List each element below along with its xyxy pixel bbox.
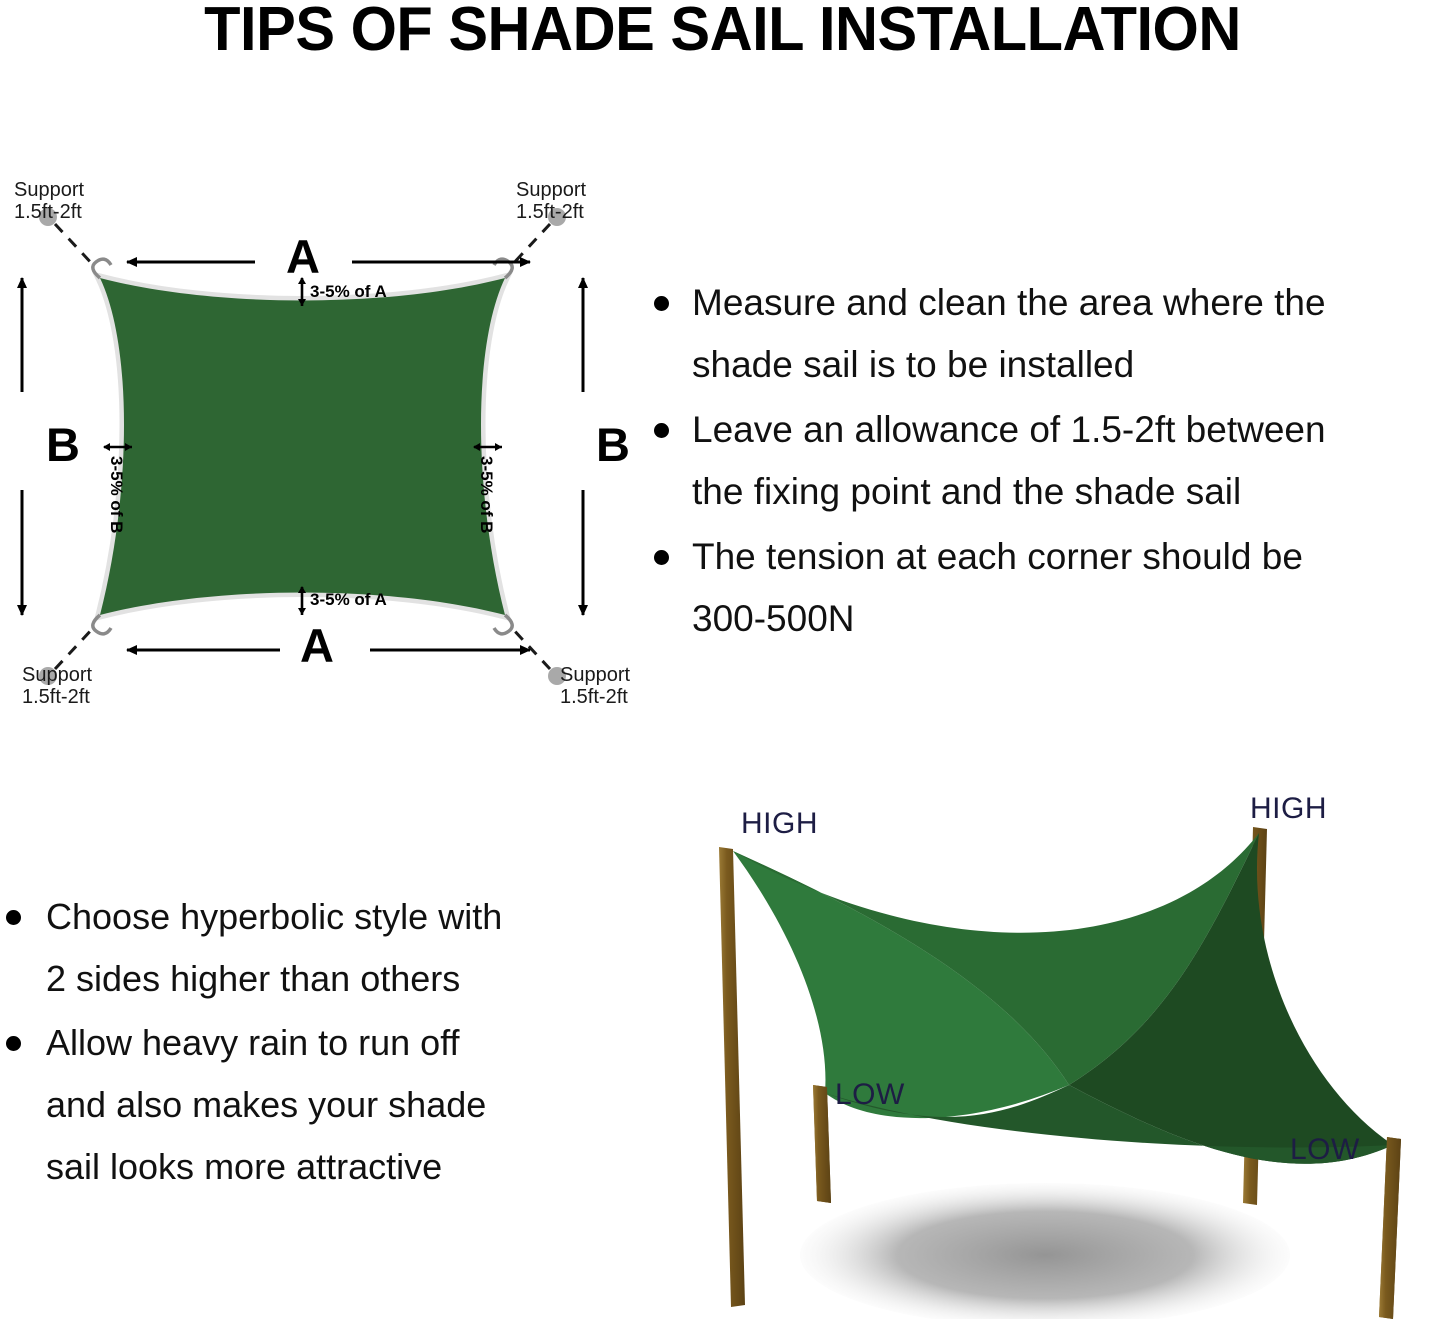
list-item: Measure and clean the area where the sha… <box>646 272 1445 396</box>
page-title: TIPS OF SHADE SAIL INSTALLATION <box>29 0 1416 65</box>
support-label-line1: Support <box>14 179 84 201</box>
dimension-letter-top-A: A <box>286 233 320 280</box>
support-label-line1: Support <box>560 664 630 686</box>
list-item: Allow heavy rain to run off and also mak… <box>0 1012 625 1198</box>
tip-line: The tension at each corner should be <box>692 536 1303 577</box>
tips-list-bottom: Choose hyperbolic style with 2 sides hig… <box>0 886 625 1200</box>
tip-line: sail looks more attractive <box>46 1146 442 1187</box>
dimension-letter-left-B: B <box>46 421 80 468</box>
tip-line: Choose hyperbolic style with <box>46 896 502 937</box>
ground-shadow <box>800 1183 1290 1319</box>
corner-label-high-left: HIGH <box>741 807 818 841</box>
support-label-line1: Support <box>22 664 92 686</box>
sail-body <box>100 278 505 615</box>
list-item: The tension at each corner should be 300… <box>646 526 1445 650</box>
corner-label-low-right: LOW <box>1290 1133 1360 1167</box>
list-item: Choose hyperbolic style with 2 sides hig… <box>0 886 625 1010</box>
curvature-label-top: 3-5% of A <box>310 282 387 302</box>
corner-label-high-right: HIGH <box>1250 792 1327 826</box>
pole-back-left <box>719 847 745 1307</box>
curvature-label-bottom: 3-5% of A <box>310 590 387 610</box>
support-label-bottom-left: Support 1.5ft-2ft <box>22 665 92 708</box>
support-label-line2: 1.5ft-2ft <box>516 202 586 224</box>
corner-label-low-left: LOW <box>835 1078 905 1112</box>
curvature-label-right: 3-5% of B <box>476 456 496 533</box>
tip-line: 300-500N <box>692 598 855 639</box>
hyperbolic-sail-diagram: HIGH HIGH LOW LOW <box>645 785 1445 1319</box>
list-item: Leave an allowance of 1.5-2ft between th… <box>646 399 1445 523</box>
tip-line: Allow heavy rain to run off <box>46 1022 460 1063</box>
support-label-top-right: Support 1.5ft-2ft <box>516 180 586 223</box>
curvature-label-left: 3-5% of B <box>106 456 126 533</box>
hyperbolic-fabric <box>733 833 1393 1164</box>
dimension-letter-right-B: B <box>596 421 630 468</box>
support-label-line1: Support <box>516 179 586 201</box>
infographic-page: TIPS OF SHADE SAIL INSTALLATION <box>0 0 1445 1319</box>
tip-line: Leave an allowance of 1.5-2ft between <box>692 409 1326 450</box>
dimension-letter-bottom-A: A <box>300 622 334 669</box>
tips-list-top: Measure and clean the area where the sha… <box>646 272 1445 653</box>
support-label-top-left: Support 1.5ft-2ft <box>14 180 84 223</box>
tip-line: and also makes your shade <box>46 1084 486 1125</box>
support-label-line2: 1.5ft-2ft <box>14 202 84 224</box>
rect-sail-diagram: Support 1.5ft-2ft Support 1.5ft-2ft Supp… <box>0 160 660 730</box>
support-label-bottom-right: Support 1.5ft-2ft <box>560 665 630 708</box>
tip-line: Measure and clean the area where the <box>692 282 1326 323</box>
support-label-line2: 1.5ft-2ft <box>560 687 630 709</box>
support-label-line2: 1.5ft-2ft <box>22 687 92 709</box>
tip-line: shade sail is to be installed <box>692 344 1134 385</box>
tip-line: 2 sides higher than others <box>46 958 460 999</box>
tip-line: the fixing point and the shade sail <box>692 471 1241 512</box>
